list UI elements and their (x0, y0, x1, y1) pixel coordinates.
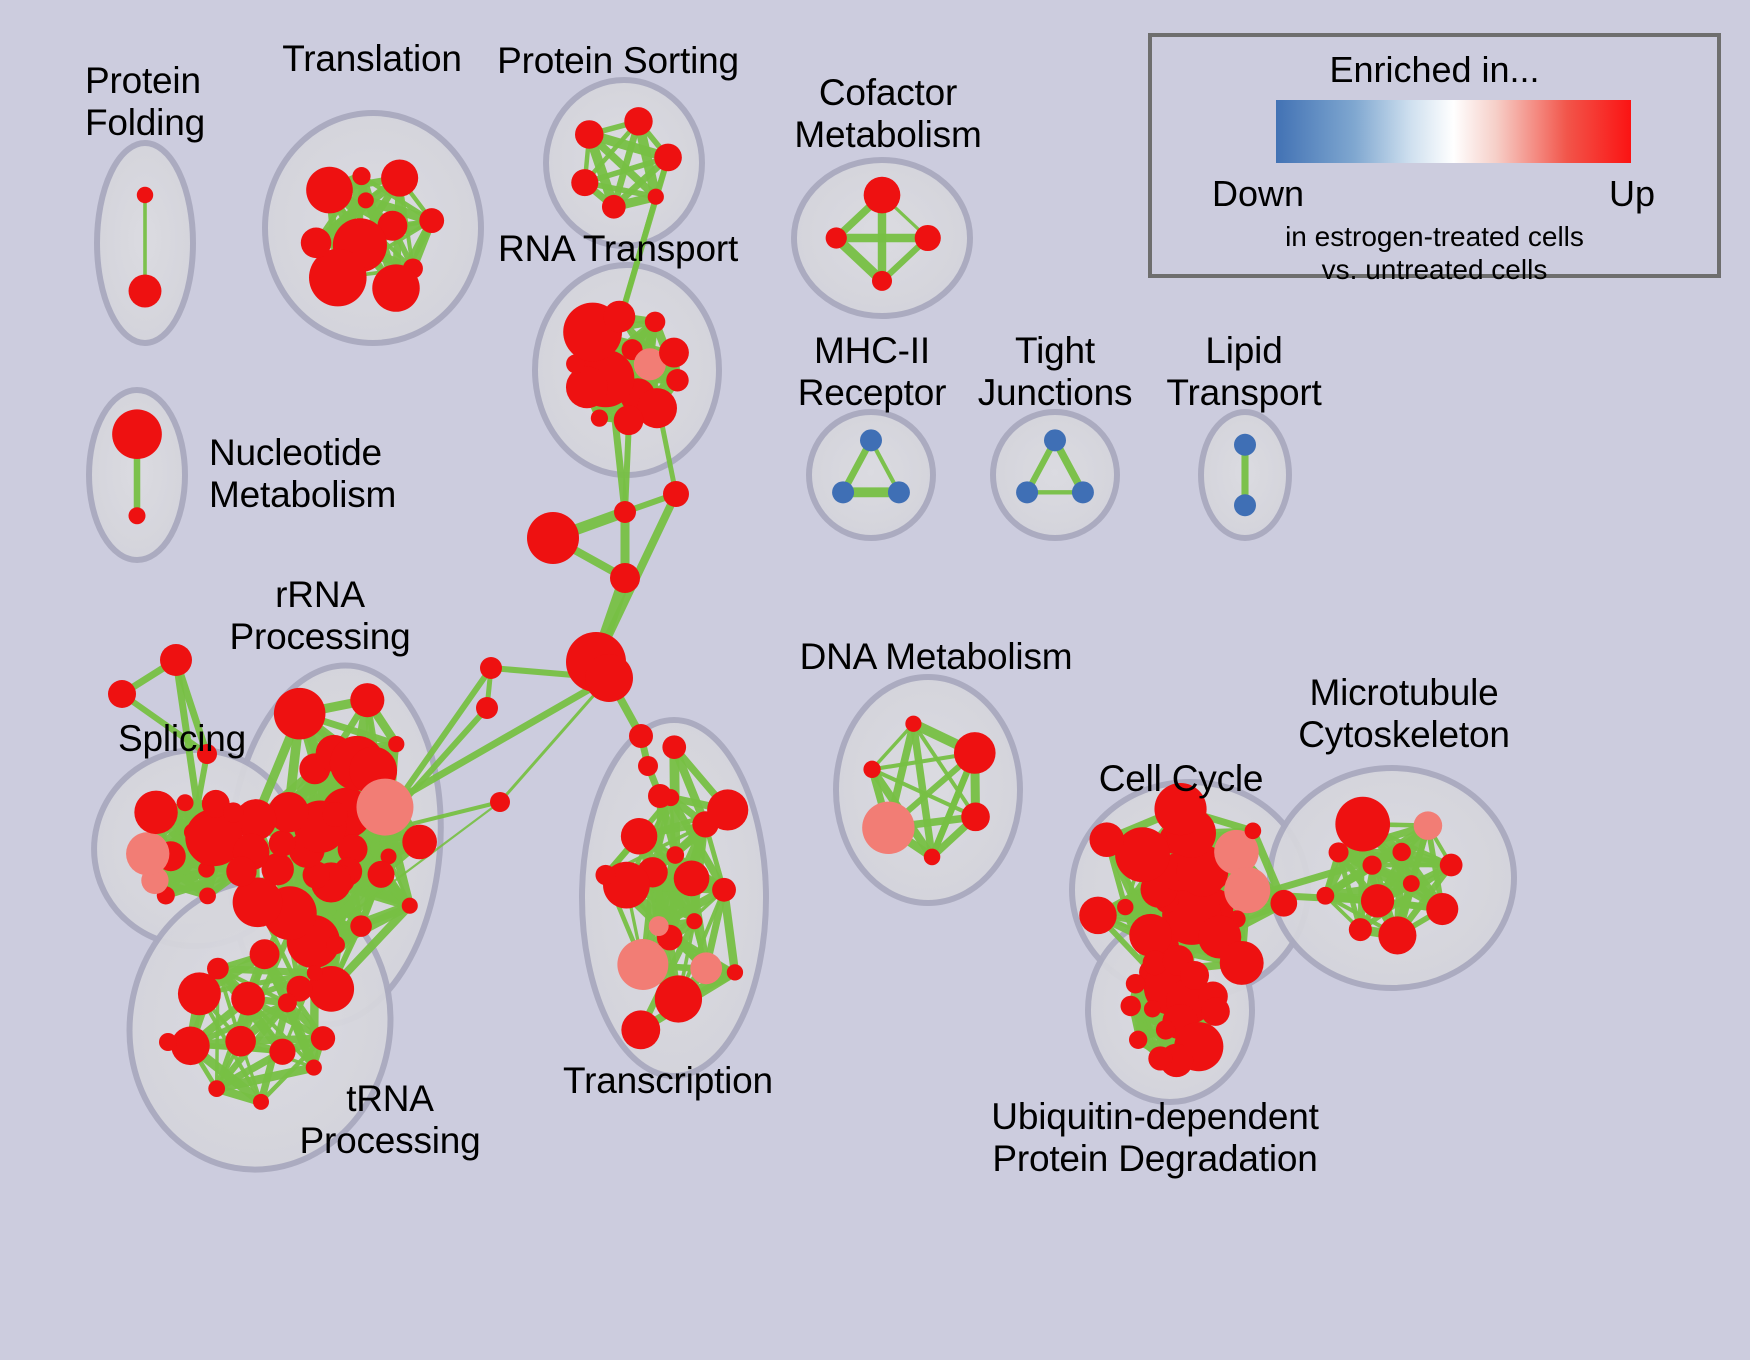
network-node (686, 913, 702, 929)
network-node (1156, 1020, 1176, 1040)
network-node (274, 688, 326, 740)
network-node (177, 794, 194, 811)
network-edge (218, 969, 315, 973)
network-node (649, 916, 669, 936)
network-node (617, 939, 668, 990)
network-node (476, 697, 498, 719)
network-node (860, 429, 882, 451)
network-node (112, 409, 162, 459)
network-node (571, 169, 598, 196)
legend-high-label: Up (1609, 173, 1655, 215)
cluster-label-cofactor-metabolism: Cofactor Metabolism (794, 72, 981, 156)
network-node (388, 736, 404, 752)
network-node (1144, 1000, 1161, 1017)
network-node (225, 1026, 256, 1057)
cluster-label-rna-transport: RNA Transport (498, 228, 738, 270)
network-node (603, 301, 635, 333)
network-node (863, 761, 880, 778)
network-node (350, 915, 372, 937)
network-node (655, 975, 702, 1022)
network-node (1378, 916, 1416, 954)
network-node (1016, 481, 1038, 503)
network-node (663, 481, 689, 507)
network-node (226, 856, 256, 886)
network-node (888, 481, 910, 503)
network-node (862, 802, 914, 854)
cluster-label-ubiquitin-dependent-protein-degradation: Ubiquitin-dependent Protein Degradation (991, 1096, 1318, 1180)
network-node (674, 861, 710, 897)
network-node (1363, 856, 1382, 875)
network-node (614, 405, 644, 435)
cluster-label-transcription: Transcription (563, 1060, 773, 1102)
network-node (350, 683, 384, 717)
network-node (231, 982, 265, 1016)
network-node (490, 792, 510, 812)
network-node (134, 791, 177, 834)
network-node (690, 952, 722, 984)
network-node (1361, 884, 1394, 917)
network-node (645, 312, 665, 332)
network-node (595, 865, 615, 885)
network-node (126, 832, 169, 875)
network-node (1440, 854, 1463, 877)
network-node (402, 898, 418, 914)
network-node (707, 789, 748, 830)
network-node (1234, 494, 1256, 516)
legend-panel: Enriched in... Down Up in estrogen-treat… (1148, 33, 1721, 278)
network-node (301, 228, 332, 259)
network-node (1148, 1046, 1172, 1070)
network-node (326, 936, 345, 955)
network-node (727, 964, 743, 980)
network-node (419, 208, 444, 233)
network-node (610, 563, 640, 593)
network-node (638, 756, 658, 776)
network-node (1079, 897, 1117, 935)
network-node (662, 735, 686, 759)
network-node (160, 644, 192, 676)
enrichment-network-figure: Protein FoldingTranslationProtein Sortin… (0, 0, 1750, 1360)
network-node (108, 680, 136, 708)
network-node (1129, 914, 1172, 957)
network-node (253, 1094, 269, 1110)
network-node (1117, 899, 1133, 915)
network-node (1044, 429, 1066, 451)
network-node (352, 167, 370, 185)
network-node (614, 501, 636, 523)
network-node (306, 167, 353, 214)
network-node (480, 657, 502, 679)
network-node (159, 1033, 177, 1051)
network-node (654, 144, 682, 172)
network-node (306, 1059, 322, 1075)
network-node (269, 1039, 295, 1065)
network-node (1414, 811, 1443, 840)
cluster-label-tight-junctions: Tight Junctions (978, 330, 1133, 414)
network-node (1270, 890, 1297, 917)
network-node (527, 512, 579, 564)
network-node (591, 410, 608, 427)
cluster-label-microtubule-cytoskeleton: Microtubule Cytoskeleton (1298, 672, 1510, 756)
legend-low-label: Down (1212, 173, 1304, 215)
network-node (1126, 974, 1145, 993)
network-node (924, 849, 941, 866)
network-node (358, 192, 374, 208)
network-node (323, 802, 348, 827)
network-node (1245, 823, 1262, 840)
legend-title: Enriched in... (1152, 49, 1717, 91)
network-node (1121, 996, 1141, 1016)
cluster-label-cell-cycle: Cell Cycle (1099, 758, 1264, 800)
legend-caption-line2: vs. untreated cells (1152, 253, 1717, 286)
network-node (372, 264, 419, 311)
network-edge (500, 678, 609, 802)
network-node (311, 1026, 335, 1050)
network-node (1403, 875, 1420, 892)
network-node (137, 187, 153, 203)
network-node (621, 818, 658, 855)
network-node (1220, 941, 1264, 985)
network-node (667, 846, 685, 864)
cluster-label-nucleotide-metabolism: Nucleotide Metabolism (209, 432, 396, 516)
network-node (207, 958, 229, 980)
network-node (832, 481, 854, 503)
network-node (269, 830, 296, 857)
network-node (1234, 434, 1256, 456)
network-node (368, 861, 395, 888)
cluster-label-translation: Translation (282, 38, 461, 80)
network-node (307, 965, 323, 981)
cluster-label-trna-processing: tRNA Processing (299, 1078, 480, 1162)
network-node (381, 160, 418, 197)
network-node (250, 939, 280, 969)
network-node (648, 784, 672, 808)
network-node (1224, 867, 1270, 913)
network-node (1316, 887, 1334, 905)
network-node (1349, 918, 1372, 941)
network-node (712, 878, 736, 902)
network-node (128, 507, 145, 524)
network-node (171, 1027, 210, 1066)
network-node (356, 779, 413, 836)
network-node (621, 1010, 660, 1049)
network-node (585, 654, 633, 702)
legend-color-gradient (1276, 100, 1631, 163)
cluster-label-splicing: Splicing (118, 718, 246, 760)
cluster-label-protein-sorting: Protein Sorting (497, 40, 739, 82)
network-node (1392, 843, 1410, 861)
network-node (624, 107, 652, 135)
network-node (199, 887, 216, 904)
network-node (659, 338, 689, 368)
network-node (129, 275, 162, 308)
network-node (1089, 822, 1124, 857)
network-node (278, 993, 297, 1012)
network-node (1426, 893, 1458, 925)
cluster-label-lipid-transport: Lipid Transport (1166, 330, 1321, 414)
cluster-label-rrna-processing: rRNA Processing (229, 574, 410, 658)
cluster-label-dna-metabolism: DNA Metabolism (800, 636, 1073, 678)
network-node (1335, 797, 1390, 852)
legend-caption: in estrogen-treated cells vs. untreated … (1152, 220, 1717, 286)
cluster-label-mhc-ii-receptor: MHC-II Receptor (798, 330, 947, 414)
network-node (826, 227, 847, 248)
network-node (602, 195, 626, 219)
network-node (575, 120, 604, 149)
network-node (961, 803, 990, 832)
network-node (223, 802, 243, 822)
network-node (872, 271, 892, 291)
network-node (629, 724, 653, 748)
network-node (402, 825, 437, 860)
legend-caption-line1: in estrogen-treated cells (1152, 220, 1717, 253)
network-node (1072, 481, 1094, 503)
network-node (905, 716, 921, 732)
network-node (1129, 1031, 1147, 1049)
network-node (864, 177, 901, 214)
network-node (954, 732, 996, 774)
network-node (648, 189, 664, 205)
network-node (1201, 997, 1230, 1026)
network-node (915, 225, 941, 251)
network-node (208, 1080, 225, 1097)
cluster-label-protein-folding: Protein Folding (85, 60, 205, 144)
network-node (666, 369, 688, 391)
